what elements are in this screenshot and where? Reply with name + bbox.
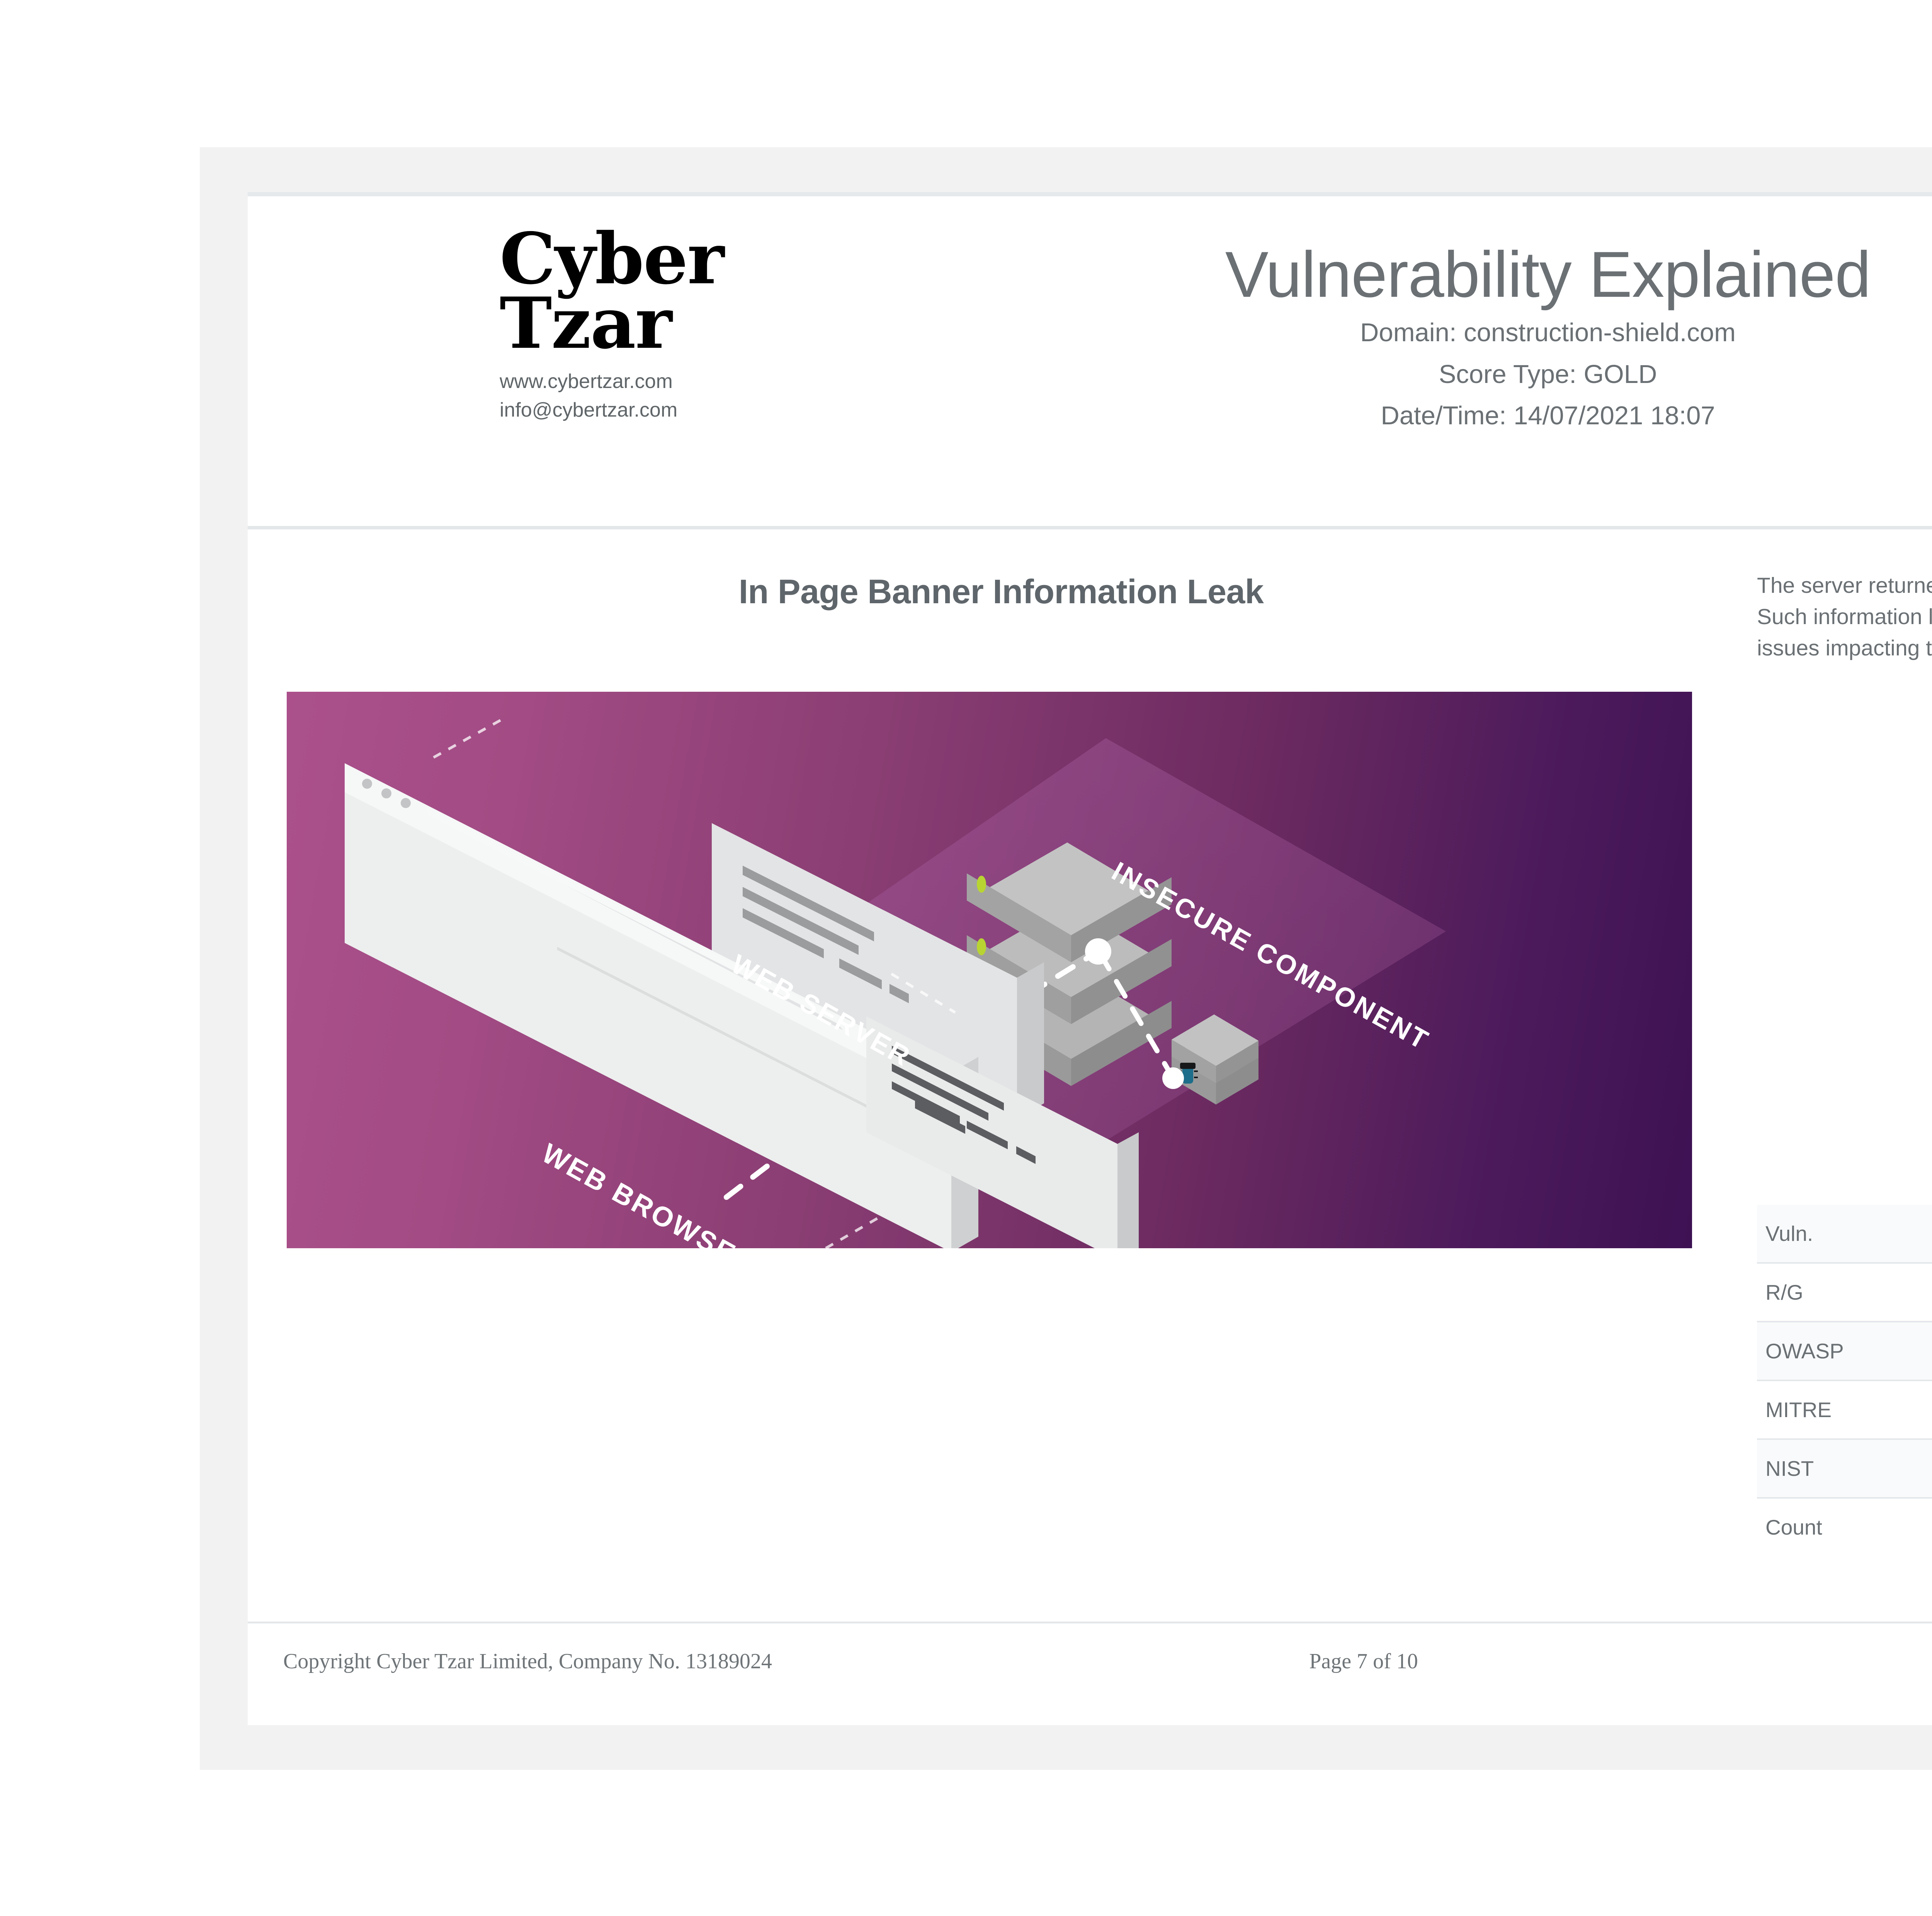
- table-row: NIST AC-3 Access Enforcement: [1757, 1439, 1932, 1498]
- brand-website: www.cybertzar.com: [494, 368, 811, 396]
- meta-key: OWASP: [1757, 1322, 1932, 1380]
- server-led-2: [977, 938, 986, 955]
- meta-key: NIST: [1757, 1439, 1932, 1498]
- table-row: MITRE Resource Development: [1757, 1380, 1932, 1439]
- domain-line: Domain: construction-shield.com: [881, 314, 1932, 351]
- screenshot-viewport: Doc. Ref.: 001704-3209-03 Cyber Tzar www…: [0, 0, 1932, 1916]
- table-row: R/G 19: [1757, 1263, 1932, 1322]
- report-footer: Copyright Cyber Tzar Limited, Company No…: [248, 1622, 1932, 1725]
- vulnerability-heading: In Page Banner Information Leak: [286, 572, 1716, 611]
- meta-key: MITRE: [1757, 1380, 1932, 1439]
- report-header: Doc. Ref.: 001704-3209-03 Cyber Tzar www…: [248, 196, 1932, 529]
- table-row: OWASP A5:2017 Broken Access Control: [1757, 1322, 1932, 1380]
- brand-word-cyber: Cyber: [494, 226, 811, 291]
- vulnerability-description: The server returned a version banner str…: [1757, 570, 1932, 664]
- meta-table-body: Vuln. In Page Banner Information Leak R/…: [1757, 1205, 1932, 1556]
- report-body: In Page Banner Information Leak The serv…: [248, 529, 1932, 1617]
- table-row: Count 6: [1757, 1498, 1932, 1556]
- title-block: Vulnerability Explained Domain: construc…: [881, 240, 1932, 434]
- isometric-scene: WEB BROWSER WEB SERVER INSECURE COMPONEN…: [287, 692, 1692, 1248]
- vulnerability-meta-table: Vuln. In Page Banner Information Leak R/…: [1757, 1205, 1932, 1556]
- table-row: Vuln. In Page Banner Information Leak: [1757, 1205, 1932, 1263]
- datetime-line: Date/Time: 14/07/2021 18:07: [881, 397, 1932, 434]
- server-led-1: [977, 876, 986, 893]
- meta-key: Count: [1757, 1498, 1932, 1556]
- brand-logo: Cyber Tzar www.cybertzar.com info@cybert…: [494, 226, 811, 425]
- page-title: Vulnerability Explained: [881, 240, 1932, 310]
- vulnerability-illustration: WEB BROWSER WEB SERVER INSECURE COMPONEN…: [287, 692, 1692, 1248]
- brand-email: info@cybertzar.com: [494, 396, 811, 425]
- label-web-browser: WEB BROWSER: [537, 1138, 761, 1248]
- connection-node-server: [1085, 938, 1111, 965]
- score-type-line: Score Type: GOLD: [881, 356, 1932, 393]
- report-page: Doc. Ref.: 001704-3209-03 Cyber Tzar www…: [248, 192, 1932, 1725]
- brand-word-tzar: Tzar: [494, 291, 811, 356]
- meta-key: Vuln.: [1757, 1205, 1932, 1263]
- meta-key: R/G: [1757, 1263, 1932, 1322]
- footer-page-number: Page 7 of 10: [248, 1649, 1932, 1674]
